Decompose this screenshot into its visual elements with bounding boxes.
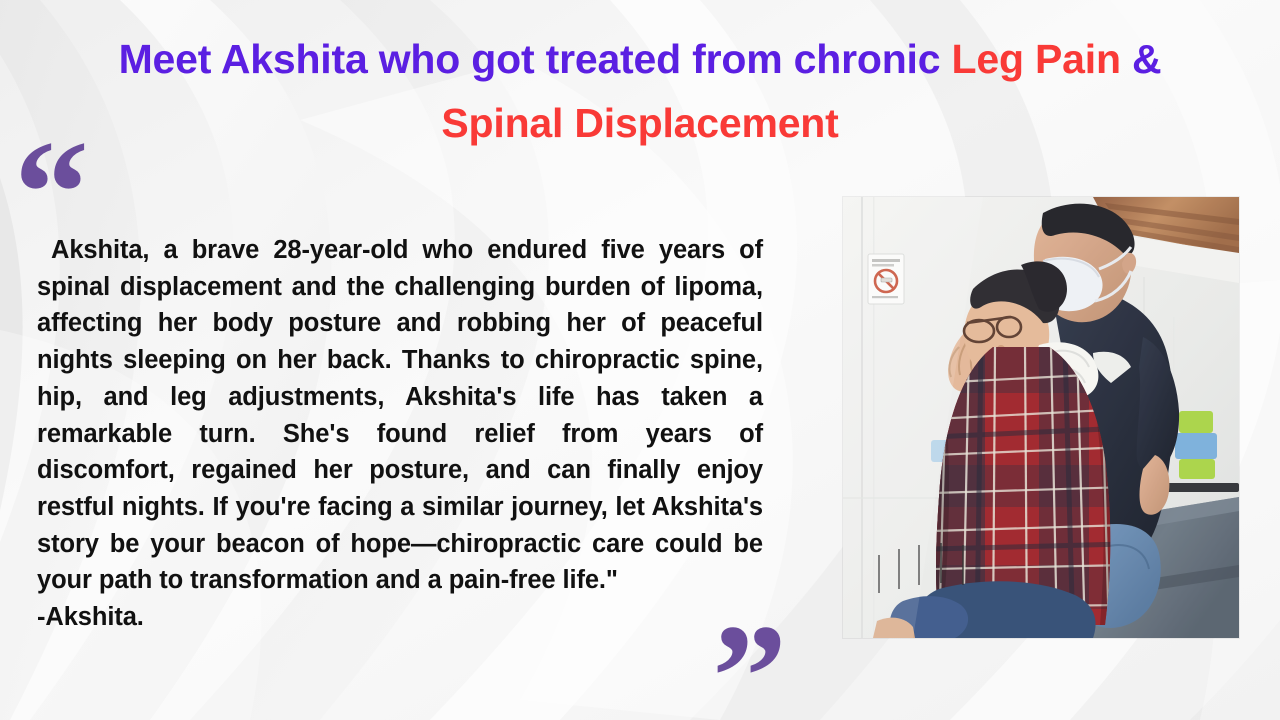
headline-part-3-ampersand: & xyxy=(1121,36,1162,82)
testimonial-signature: -Akshita. xyxy=(37,599,763,636)
headline-part-2-leg-pain: Leg Pain xyxy=(952,36,1121,82)
headline-part-1: Meet Akshita who got treated from chroni… xyxy=(119,36,952,82)
treatment-photo-illustration xyxy=(843,197,1239,638)
testimonial-body: Akshita, a brave 28-year-old who endured… xyxy=(37,236,763,594)
testimonial-text-block: Akshita, a brave 28-year-old who endured… xyxy=(37,232,763,636)
poster-headline: Meet Akshita who got treated from chroni… xyxy=(60,28,1220,155)
testimonial-poster: Meet Akshita who got treated from chroni… xyxy=(0,0,1280,720)
headline-line-2: Spinal Displacement xyxy=(441,100,838,146)
quote-close-icon: ” xyxy=(712,602,787,720)
treatment-photo xyxy=(843,197,1239,638)
